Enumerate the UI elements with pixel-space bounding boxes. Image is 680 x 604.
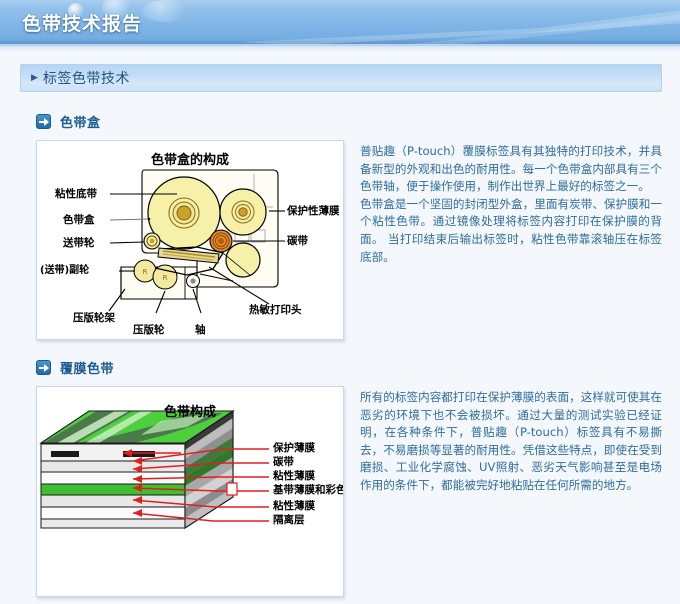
arrow-right-chip-icon (36, 114, 51, 129)
subsection-heading-tape-cassette: 色带盒 (36, 112, 101, 131)
figure-label-platen-roller-frame: 压版轮架 (73, 313, 115, 324)
text-block-laminated-tape: 所有的标签内容都打印在保护薄膜的表面，这样就可使其在恶劣的环境下也不会被损坏。通… (360, 389, 662, 495)
figure-label-carbon-ribbon: 碳带 (287, 236, 308, 247)
arrow-right-chip-icon (36, 360, 51, 375)
subsection-label: 色带盒 (60, 112, 101, 131)
svg-text:R: R (143, 268, 148, 276)
header-bubble-decoration (142, 0, 190, 22)
text-block-tape-cassette: 普贴趣（P-touch）覆膜标签具有其独特的打印技术，并具备新型的外观和出色的耐… (360, 143, 662, 266)
header-swoosh-decoration (240, 2, 680, 46)
page-header: 色带技术报告 (0, 0, 680, 46)
figure-label-platen-roller: 压版轮 (133, 325, 165, 336)
layer-label-release-liner: 隔离层 (273, 515, 305, 526)
caret-right-icon: ▶ (31, 74, 38, 83)
layer-label-adhesive-film-upper: 粘性薄膜 (273, 471, 315, 482)
layer-label-carbon-ribbon: 碳带 (273, 457, 294, 468)
section-bar-label-ribbon-technology[interactable]: ▶ 标签色带技术 (20, 64, 662, 92)
figure-tape-cassette-construction: 色带盒的构成 R (36, 140, 344, 340)
figure-label-adhesive-base-tape: 粘性底带 (55, 189, 97, 200)
subsection-label: 覆膜色带 (60, 358, 114, 377)
paragraph: 色带盒是一个坚固的封闭型外盒，里面有炭带、保护膜和一个粘性色带。通过镜像处理将标… (360, 196, 662, 266)
figure-title: 色带构成 (37, 401, 343, 420)
layer-label-adhesive-film-lower: 粘性薄膜 (273, 501, 315, 512)
header-underglow (0, 44, 680, 52)
layer-label-protective-film: 保护薄膜 (273, 443, 315, 454)
section-bar-label: 标签色带技术 (43, 68, 130, 88)
figure-label-thermal-print-head: 热敏打印头 (249, 305, 302, 316)
page-title: 色带技术报告 (22, 9, 142, 36)
figure-title: 色带盒的构成 (37, 149, 343, 168)
paragraph: 普贴趣（P-touch）覆膜标签具有其独特的打印技术，并具备新型的外观和出色的耐… (360, 143, 662, 196)
subsection-heading-laminated-tape: 覆膜色带 (36, 358, 114, 377)
figure-label-shaft: 轴 (195, 325, 206, 336)
figure-label-tape-cassette: 色带盒 (63, 215, 95, 226)
figure-label-feed-roller: 送带轮 (63, 238, 95, 249)
figure-label-feed-sub-roller: (送带)副轮 (40, 266, 89, 276)
paragraph: 所有的标签内容都打印在保护薄膜的表面，这样就可使其在恶劣的环境下也不会被损坏。通… (360, 389, 662, 495)
layer-label-base-film-and-color-base-film: 基带薄膜和彩色基膜 (273, 485, 344, 496)
figure-label-protective-film: 保护性薄膜 (287, 206, 340, 217)
svg-text:R: R (163, 274, 168, 282)
figure-tape-layer-construction: 色带构成 (36, 386, 344, 597)
